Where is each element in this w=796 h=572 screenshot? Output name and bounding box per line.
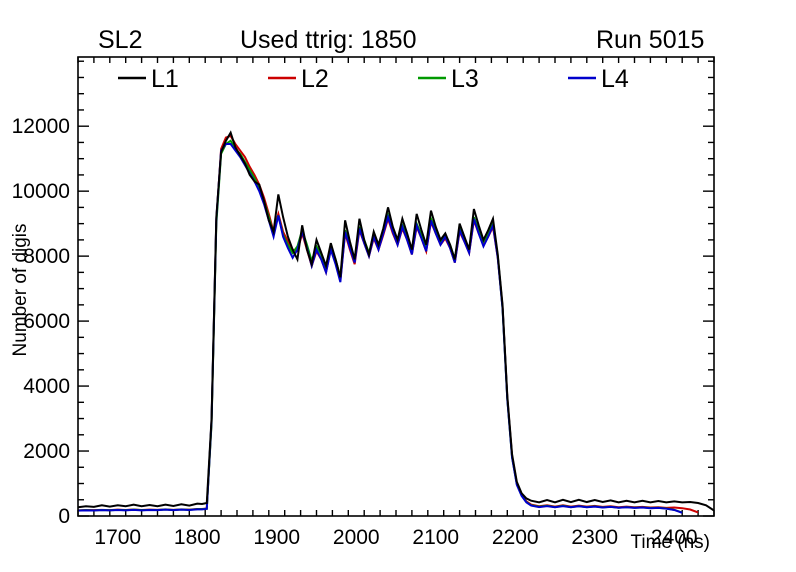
plot-canvas: SL2 Used ttrig: 1850 Run 5015 Number of … bbox=[0, 0, 796, 572]
x-tick-label: 2400 bbox=[651, 526, 698, 549]
x-tick-label: 1900 bbox=[253, 526, 300, 549]
x-tick-label: 2300 bbox=[571, 526, 618, 549]
legend-label-l2: L2 bbox=[301, 65, 329, 93]
series-line-l4 bbox=[78, 144, 682, 513]
y-tick-label: 6000 bbox=[23, 310, 70, 333]
y-tick-label: 2000 bbox=[23, 440, 70, 463]
x-tick-label: 2200 bbox=[492, 526, 539, 549]
run-label: Run 5015 bbox=[596, 26, 704, 54]
y-tick-label: 10000 bbox=[12, 180, 70, 203]
x-tick-label: 2000 bbox=[333, 526, 380, 549]
data-series-group bbox=[78, 133, 714, 513]
series-line-l3 bbox=[78, 141, 682, 513]
y-axis-title: Number of digis bbox=[10, 223, 31, 356]
y-tick-label: 0 bbox=[58, 505, 70, 528]
x-tick-label: 1800 bbox=[174, 526, 221, 549]
x-tick-label: 2100 bbox=[412, 526, 459, 549]
legend: L1L2L3L4 bbox=[118, 65, 629, 93]
plot-frame bbox=[78, 57, 714, 516]
series-line-l1 bbox=[78, 133, 714, 511]
legend-label-l1: L1 bbox=[151, 65, 179, 93]
superlayer-label: SL2 bbox=[98, 26, 142, 54]
y-tick-label: 12000 bbox=[12, 115, 70, 138]
axis-tick-labels: 1700180019002000210022002300240002000400… bbox=[12, 115, 698, 549]
digis-vs-time-chart: SL2 Used ttrig: 1850 Run 5015 Number of … bbox=[0, 0, 796, 572]
legend-label-l4: L4 bbox=[601, 65, 629, 93]
x-tick-label: 1700 bbox=[94, 526, 141, 549]
legend-label-l3: L3 bbox=[451, 65, 479, 93]
series-line-l2 bbox=[78, 136, 698, 512]
y-tick-label: 8000 bbox=[23, 245, 70, 268]
axis-ticks bbox=[78, 57, 714, 516]
y-tick-label: 4000 bbox=[23, 375, 70, 398]
ttrig-label: Used ttrig: 1850 bbox=[240, 26, 417, 54]
